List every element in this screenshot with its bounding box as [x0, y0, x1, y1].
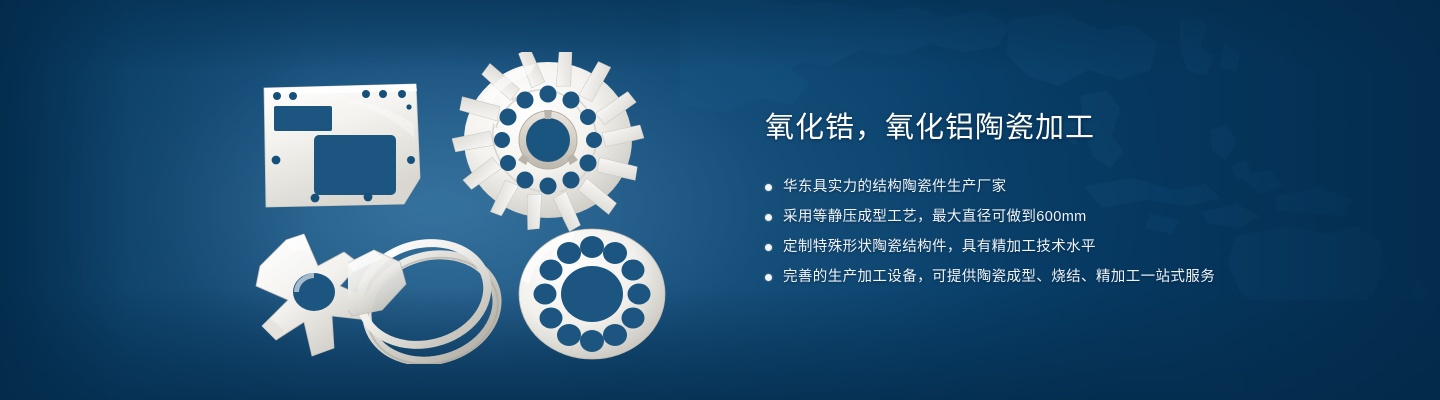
- list-item: 定制特殊形状陶瓷结构件，具有精加工技术水平: [765, 236, 1385, 258]
- ceramic-thin-rings: [348, 224, 518, 364]
- feature-text: 华东具实力的结构陶瓷件生产厂家: [783, 176, 1007, 198]
- feature-text: 采用等静压成型工艺，最大直径可做到600mm: [783, 206, 1087, 228]
- product-hero-banner: 氧化锆，氧化铝陶瓷加工 华东具实力的结构陶瓷件生产厂家 采用等静压成型工艺，最大…: [0, 0, 1440, 400]
- ceramic-bladed-impeller: [452, 52, 652, 232]
- feature-text: 定制特殊形状陶瓷结构件，具有精加工技术水平: [783, 236, 1096, 258]
- page-title: 氧化锆，氧化铝陶瓷加工: [765, 108, 1385, 148]
- feature-list: 华东具实力的结构陶瓷件生产厂家 采用等静压成型工艺，最大直径可做到600mm 定…: [765, 176, 1385, 288]
- banner-text-column: 氧化锆，氧化铝陶瓷加工 华东具实力的结构陶瓷件生产厂家 采用等静压成型工艺，最大…: [765, 108, 1385, 296]
- ceramic-perforated-disc: [512, 226, 678, 364]
- ceramic-mounting-plate: [248, 78, 438, 214]
- bullet-dot-icon: [765, 214, 772, 221]
- bullet-dot-icon: [765, 184, 772, 191]
- feature-text: 完善的生产加工设备，可提供陶瓷成型、烧结、精加工一站式服务: [783, 266, 1215, 288]
- list-item: 采用等静压成型工艺，最大直径可做到600mm: [765, 206, 1385, 228]
- list-item: 完善的生产加工设备，可提供陶瓷成型、烧结、精加工一站式服务: [765, 266, 1385, 288]
- bullet-dot-icon: [765, 274, 772, 281]
- list-item: 华东具实力的结构陶瓷件生产厂家: [765, 176, 1385, 198]
- bullet-dot-icon: [765, 244, 772, 251]
- product-photo-group: [0, 0, 720, 400]
